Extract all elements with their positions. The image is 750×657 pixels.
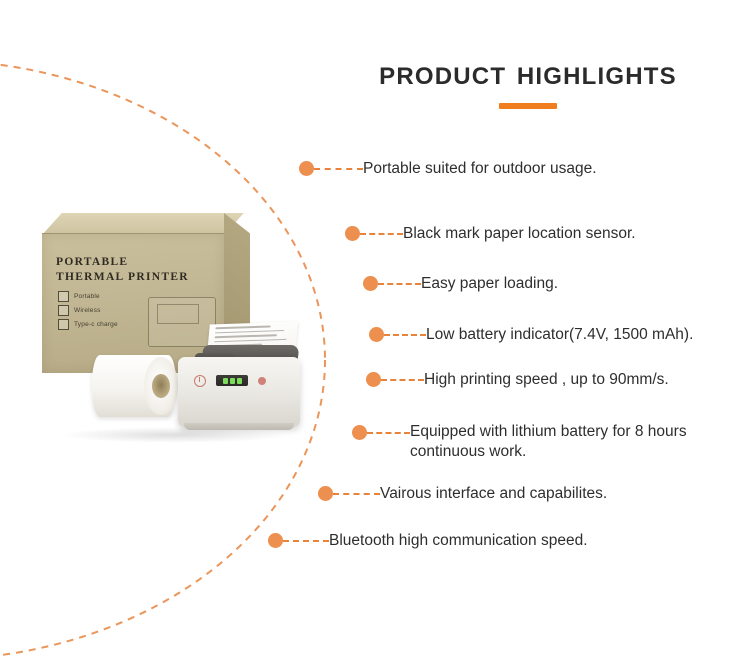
box-title-line2: THERMAL PRINTER [56, 270, 224, 285]
printer-base [184, 423, 294, 430]
list-item-label: Easy paper loading. [421, 274, 558, 293]
list-item-label: Black mark paper location sensor. [403, 224, 636, 243]
led-indicator-panel [216, 375, 248, 386]
page-title: Product Highlights [338, 56, 718, 90]
product-photo: PORTABLE THERMAL PRINTER Portable Wirele… [20, 205, 330, 455]
bullet-connector [360, 233, 403, 235]
list-item-label: Equipped with lithium battery for 8 hour… [410, 422, 687, 462]
portable-icon [58, 291, 69, 302]
box-feature-label: Type-c charge [74, 321, 118, 328]
feed-button [258, 377, 266, 385]
list-item-label: Portable suited for outdoor usage. [363, 159, 597, 178]
usb-c-icon [58, 319, 69, 330]
bullet-connector [283, 540, 329, 542]
bullet-dot [366, 372, 381, 387]
bullet-connector [333, 493, 380, 495]
thermal-paper-roll [92, 355, 176, 417]
list-item-label: High printing speed , up to 90mm/s. [424, 370, 669, 389]
bullet-dot [318, 486, 333, 501]
box-title: PORTABLE THERMAL PRINTER [56, 255, 224, 285]
list-item-label: Bluetooth high communication speed. [329, 531, 588, 550]
page-title-block: Product Highlights [338, 56, 718, 109]
power-button-icon [194, 375, 206, 387]
printer-body [178, 357, 300, 427]
list-item-label: Vairous interface and capabilites. [380, 484, 607, 503]
bullet-dot [268, 533, 283, 548]
box-title-line1: PORTABLE [56, 255, 224, 270]
box-feature-label: Portable [74, 293, 100, 300]
bullet-dot [345, 226, 360, 241]
box-feature-label: Wireless [74, 307, 101, 314]
bullet-connector [381, 379, 424, 381]
bullet-dot [352, 425, 367, 440]
bullet-connector [367, 432, 410, 434]
wireless-icon [58, 305, 69, 316]
title-underline [499, 103, 557, 109]
bullet-connector [378, 283, 421, 285]
infographic-canvas: Product Highlights Portable suited for o… [0, 0, 750, 657]
list-item-label: Low battery indicator(7.4V, 1500 mAh). [426, 325, 693, 344]
box-seam [42, 233, 224, 234]
bullet-dot [299, 161, 314, 176]
box-top-face [42, 213, 244, 235]
bullet-dot [369, 327, 384, 342]
bullet-connector [384, 334, 426, 336]
bullet-dot [363, 276, 378, 291]
bullet-connector [314, 168, 363, 170]
thermal-printer [168, 323, 308, 435]
